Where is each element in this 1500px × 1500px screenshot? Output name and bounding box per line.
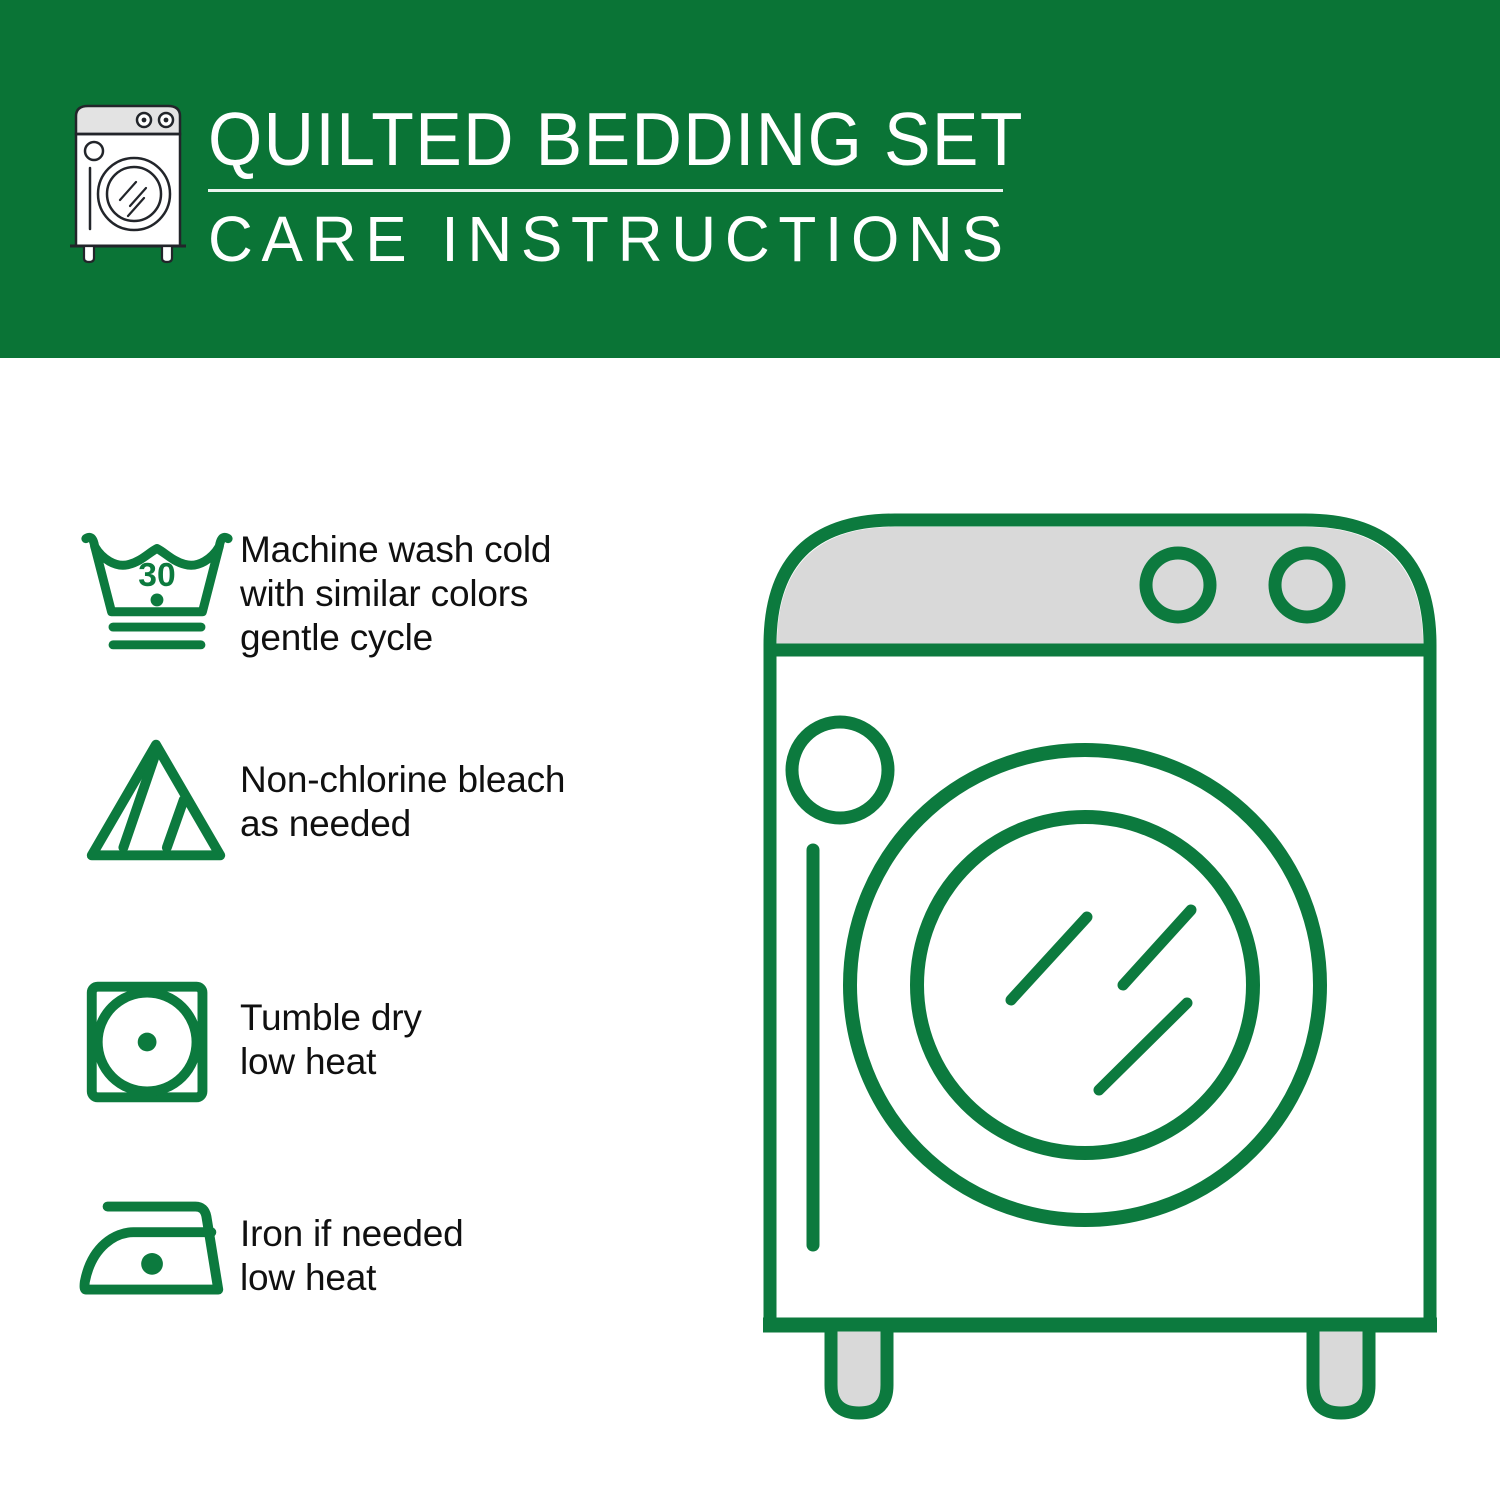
page-title: QUILTED BEDDING SET bbox=[208, 100, 1024, 178]
care-item-label: Machine wash cold with similar colors ge… bbox=[240, 524, 551, 660]
care-item-label: Non-chlorine bleach as needed bbox=[240, 730, 565, 846]
wash-temperature-value: 30 bbox=[138, 557, 175, 594]
care-instructions-page: QUILTED BEDDING SET CARE INSTRUCTIONS bbox=[0, 0, 1500, 1500]
control-knob bbox=[1275, 553, 1339, 617]
control-knob bbox=[1146, 553, 1210, 617]
washing-machine-icon bbox=[62, 96, 194, 264]
care-instructions-list: 30 Machine wash cold with similar colors… bbox=[0, 358, 740, 1500]
washing-machine-illustration bbox=[735, 480, 1465, 1440]
drum-inner-ring bbox=[917, 817, 1253, 1153]
header-content: QUILTED BEDDING SET CARE INSTRUCTIONS bbox=[62, 96, 1085, 272]
page-header: QUILTED BEDDING SET CARE INSTRUCTIONS bbox=[0, 0, 1500, 358]
iron-low-heat-icon bbox=[72, 1190, 240, 1315]
care-item-label: Tumble dry low heat bbox=[240, 970, 422, 1084]
page-subtitle: CARE INSTRUCTIONS bbox=[208, 206, 1059, 272]
non-chlorine-bleach-triangle-icon bbox=[72, 730, 240, 875]
care-item-iron: Iron if needed low heat bbox=[72, 1190, 463, 1315]
tumble-dry-low-icon bbox=[72, 970, 240, 1115]
title-divider bbox=[208, 189, 1003, 192]
care-item-bleach: Non-chlorine bleach as needed bbox=[72, 730, 565, 875]
care-item-tumble-dry: Tumble dry low heat bbox=[72, 970, 422, 1115]
care-item-machine-wash: 30 Machine wash cold with similar colors… bbox=[72, 524, 551, 660]
machine-leg bbox=[831, 1325, 887, 1413]
care-item-label: Iron if needed low heat bbox=[240, 1190, 463, 1300]
machine-leg bbox=[1313, 1325, 1369, 1413]
detergent-port-circle bbox=[792, 722, 888, 818]
header-title-block: QUILTED BEDDING SET CARE INSTRUCTIONS bbox=[208, 96, 1085, 272]
wash-tub-30-icon: 30 bbox=[72, 524, 240, 659]
